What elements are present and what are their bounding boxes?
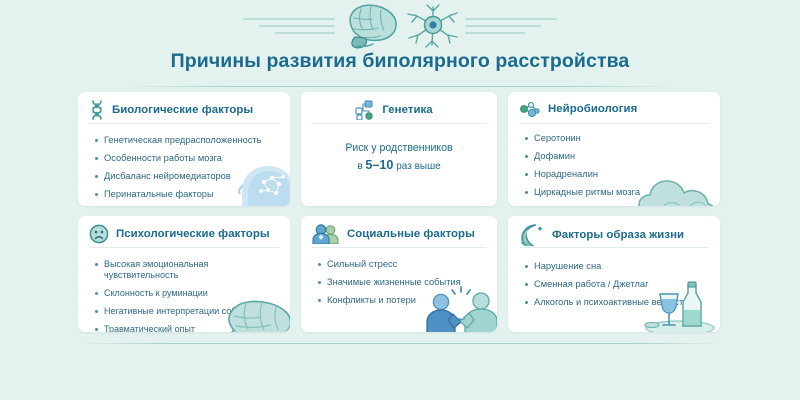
- card-title: Психологические факторы: [116, 228, 270, 240]
- list-item: Сильный стресс: [318, 259, 487, 270]
- sad-face-icon: [89, 224, 109, 244]
- list-item: Перинатальные факторы: [95, 189, 280, 200]
- footer-divider: [80, 343, 720, 344]
- list-item: Особенности работы мозга: [95, 153, 280, 164]
- card-title-divider: [519, 247, 709, 248]
- molecule-icon: [519, 100, 541, 118]
- card-title: Факторы образа жизни: [552, 229, 684, 241]
- card-psychological[interactable]: Психологические факторы Высокая эмоциона…: [78, 216, 290, 332]
- list-item: Нарушение сна: [525, 261, 710, 272]
- genetics-risk-value: 5–10: [365, 158, 393, 172]
- header-icon-row: [0, 2, 800, 50]
- card-title: Биологические факторы: [112, 104, 253, 116]
- list-item: Конфликты и потери: [318, 295, 487, 306]
- card-genetics[interactable]: Генетика Риск у родственников в 5–10 раз…: [301, 92, 497, 206]
- card-title: Нейробиология: [548, 103, 637, 115]
- genetics-line-2: в 5–10 раз выше: [313, 157, 485, 175]
- list-item: Сменная работа / Джетлаг: [525, 279, 710, 290]
- card-biological[interactable]: Биологические факторы Генетическая предр…: [78, 92, 290, 206]
- card-title-divider: [312, 247, 486, 248]
- genetics-suffix: раз выше: [393, 161, 440, 172]
- list-item: Дофамин: [525, 151, 710, 162]
- rule-lines-right-icon: [465, 18, 557, 34]
- list-item: Генетическая предрасположенность: [95, 135, 280, 146]
- card-header: Нейробиология: [508, 92, 720, 124]
- card-title-divider: [519, 123, 709, 124]
- two-people-icon: [312, 224, 340, 244]
- list-item: Значимые жизненные события: [318, 277, 487, 288]
- card-lifestyle[interactable]: Факторы образа жизни Нарушение сна Сменн…: [508, 216, 720, 332]
- genetics-statement: Риск у родственников в 5–10 раз выше: [301, 126, 497, 175]
- dna-icon: [89, 100, 105, 120]
- card-neurobiology[interactable]: Нейробиология Серотонин Дофамин Норадрен…: [508, 92, 720, 206]
- list-item: Негативные интерпретации событий: [95, 306, 280, 317]
- brain-icon: [339, 3, 401, 49]
- bullet-list: Сильный стресс Значимые жизненные событи…: [301, 250, 497, 306]
- list-item: Высокая эмоциональная чувствительность: [95, 259, 280, 281]
- bullet-list: Серотонин Дофамин Норадреналин Циркадные…: [508, 124, 720, 198]
- card-title-divider: [89, 123, 279, 124]
- rule-lines-left-icon: [243, 18, 335, 34]
- bullet-list: Нарушение сна Сменная работа / Джетлаг А…: [508, 252, 720, 308]
- family-tree-icon: [355, 100, 375, 120]
- list-item: Норадреналин: [525, 169, 710, 180]
- header: Причины развития биполярного расстройств…: [0, 0, 800, 52]
- card-title-divider: [89, 247, 279, 248]
- genetics-line-1: Риск у родственников: [313, 140, 485, 157]
- list-item: Циркадные ритмы мозга: [525, 187, 710, 198]
- page-title: Причины развития биполярного расстройств…: [0, 50, 800, 73]
- bullet-list: Генетическая предрасположенность Особенн…: [78, 126, 290, 200]
- card-title: Социальные факторы: [347, 228, 475, 240]
- list-item: Травматический опыт: [95, 324, 280, 332]
- list-item: Склонность к руминации: [95, 288, 280, 299]
- crescent-moon-icon: [519, 224, 545, 246]
- infographic-canvas: Причины развития биполярного расстройств…: [0, 0, 800, 400]
- card-header: Социальные факторы: [301, 216, 497, 250]
- card-title: Генетика: [382, 104, 432, 116]
- factors-grid: Биологические факторы Генетическая предр…: [78, 92, 722, 332]
- card-header: Генетика: [301, 92, 497, 126]
- list-item: Дисбаланс нейромедиаторов: [95, 171, 280, 182]
- list-item: Алкоголь и психоактивные вещества: [525, 297, 710, 308]
- card-title-divider: [312, 123, 486, 124]
- list-item: Серотонин: [525, 133, 710, 144]
- header-divider: [128, 86, 672, 87]
- card-header: Психологические факторы: [78, 216, 290, 250]
- neuron-icon: [405, 3, 461, 49]
- card-header: Биологические факторы: [78, 92, 290, 126]
- bullet-list: Высокая эмоциональная чувствительность С…: [78, 250, 290, 332]
- card-social[interactable]: Социальные факторы Сильный стресс Значим…: [301, 216, 497, 332]
